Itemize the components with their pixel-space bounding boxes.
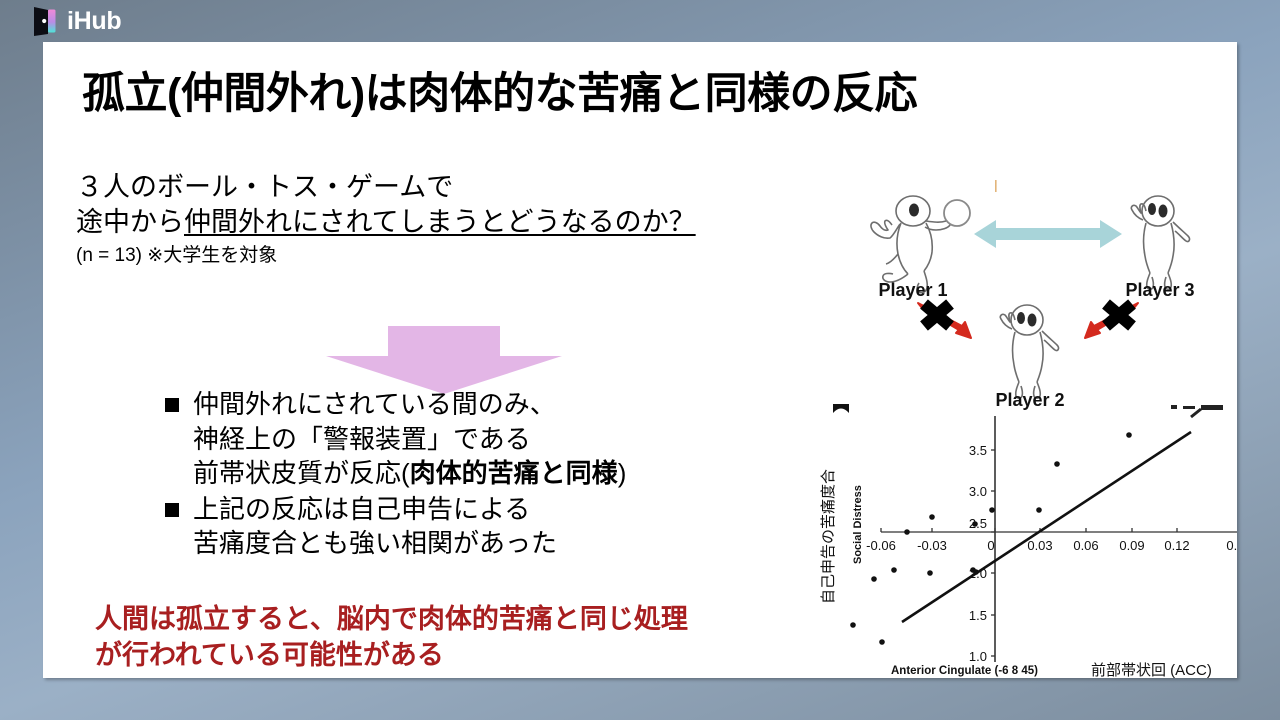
block-mark-left-x-icon [924, 304, 950, 326]
x-tick-3: 0.03 [1027, 538, 1052, 553]
panel-label-cropped [833, 404, 849, 413]
data-point [1126, 432, 1132, 438]
stray-mark [995, 180, 997, 192]
bullet-list: 仲間外れにされている間のみ、 神経上の「警報装置」である 前帯状皮質が反応(肉体… [165, 387, 626, 562]
player-2-eye-right [1028, 314, 1037, 327]
data-point [972, 521, 978, 527]
y-tick-4: 3.0 [969, 484, 987, 499]
bullet-2-line-2: 苦痛度合とも強い相関があった [193, 526, 557, 561]
down-arrow-icon [326, 326, 562, 394]
y-axis-label-en: Social Distress [852, 485, 864, 564]
data-point [989, 507, 995, 513]
player-3-label: Player 3 [1125, 280, 1194, 300]
x-axis-label-jp: 前部帯状回 (ACC) [1091, 662, 1212, 678]
player-1-eye [909, 204, 919, 217]
x-tick-7: 0.15 [1226, 538, 1237, 553]
trendline [902, 432, 1191, 622]
bullet-1-line-3: 前帯状皮質が反応(肉体的苦痛と同様) [193, 456, 626, 491]
correlation-annotation-cropped [1171, 405, 1223, 417]
y-tick-1: 1.5 [969, 608, 987, 623]
list-item: 仲間外れにされている間のみ、 神経上の「警報装置」である 前帯状皮質が反応(肉体… [165, 387, 626, 491]
x-tick-5: 0.09 [1119, 538, 1144, 553]
player-3-eye-left [1148, 203, 1156, 215]
intro-block: ３人のボール・トス・ゲームで 途中から仲間外れにされてしまうとどうなるのか？ (… [76, 170, 696, 270]
player-3-eye-right [1159, 205, 1168, 218]
square-bullet-icon [165, 503, 179, 517]
slide-canvas: 孤立(仲間外れ)は肉体的な苦痛と同様の反応 ３人のボール・トス・ゲームで 途中か… [43, 42, 1237, 678]
data-point [1054, 461, 1060, 467]
slide-viewer: iHub 孤立(仲間外れ)は肉体的な苦痛と同様の反応 ３人のボール・トス・ゲーム… [0, 0, 1280, 720]
player-1-label: Player 1 [878, 280, 947, 300]
bullet-2-line-1: 上記の反応は自己申告による [193, 492, 557, 527]
bullet-1-line-2: 神経上の「警報装置」である [193, 422, 626, 457]
bullet-1-line-3-tail: ) [618, 458, 627, 488]
block-mark-right-x-icon [1106, 304, 1132, 326]
data-point [973, 569, 979, 575]
y-tick-3: 2.5 [969, 516, 987, 531]
y-tick-0: 1.0 [969, 649, 987, 664]
list-item: 上記の反応は自己申告による 苦痛度合とも強い相関があった [165, 492, 626, 561]
double-headed-arrow-icon [974, 220, 1122, 248]
x-tick-4: 0.06 [1073, 538, 1098, 553]
bullet-1-line-3-head: 前帯状皮質が反応( [193, 458, 410, 488]
data-point [927, 570, 933, 576]
conclusion-line-2: が行われている可能性がある [95, 638, 688, 674]
x-tick-0: -0.06 [866, 538, 896, 553]
square-bullet-icon [165, 398, 179, 412]
page-title: 孤立(仲間外れ)は肉体的な苦痛と同様の反応 [82, 70, 917, 119]
data-point [879, 639, 885, 645]
x-tick-6: 0.12 [1164, 538, 1189, 553]
data-point [904, 529, 910, 535]
ball-icon [944, 200, 970, 226]
brand-name: iHub [67, 9, 121, 34]
data-point [871, 576, 877, 582]
intro-line-2-plain: 途中から [76, 207, 184, 237]
door-logo-icon [32, 6, 58, 36]
data-point [929, 514, 935, 520]
player-2-eye-left [1017, 312, 1025, 324]
intro-line-2: 途中から仲間外れにされてしまうとどうなるのか？ [76, 205, 696, 240]
y-axis-label-jp: 自己申告の苦痛度合 [820, 469, 837, 604]
y-tick-5: 3.5 [969, 443, 987, 458]
bullet-1-line-3-bold: 肉体的苦痛と同様 [410, 458, 618, 488]
conclusion-line-1: 人間は孤立すると、脳内で肉体的苦痛と同じ処理 [95, 602, 688, 638]
list-item-text: 上記の反応は自己申告による 苦痛度合とも強い相関があった [193, 492, 557, 561]
data-point [891, 567, 897, 573]
conclusion-text: 人間は孤立すると、脳内で肉体的苦痛と同じ処理 が行われている可能性がある [95, 602, 688, 673]
intro-line-1: ３人のボール・トス・ゲームで [76, 170, 696, 205]
scatter-plot: -0.06 -0.03 0 0.03 0.06 0.09 0.12 0.15 1… [819, 404, 1237, 678]
list-item-text: 仲間外れにされている間のみ、 神経上の「警報装置」である 前帯状皮質が反応(肉体… [193, 387, 626, 491]
y-tick-labels: 1.0 1.5 2.0 2.5 3.0 3.5 [969, 443, 987, 664]
intro-line-2-underlined: 仲間外れにされてしまうとどうなるのか？ [184, 207, 696, 237]
data-point [850, 622, 856, 628]
x-tick-labels: -0.06 -0.03 0 0.03 0.06 0.09 0.12 0.15 [866, 538, 1237, 553]
x-tick-1: -0.03 [917, 538, 947, 553]
data-point [1036, 507, 1042, 513]
brand-logo[interactable]: iHub [32, 6, 121, 36]
intro-note: (n = 13) ※大学生を対象 [76, 243, 696, 270]
x-axis-label-en: Anterior Cingulate (-6 8 45) [891, 665, 1038, 677]
ball-toss-game-diagram: Player 1 Player 3 Player 2 [838, 178, 1237, 418]
x-tick-2: 0 [987, 538, 994, 553]
bullet-1-line-1: 仲間外れにされている間のみ、 [193, 387, 626, 422]
brand-bar: iHub [0, 0, 1280, 42]
